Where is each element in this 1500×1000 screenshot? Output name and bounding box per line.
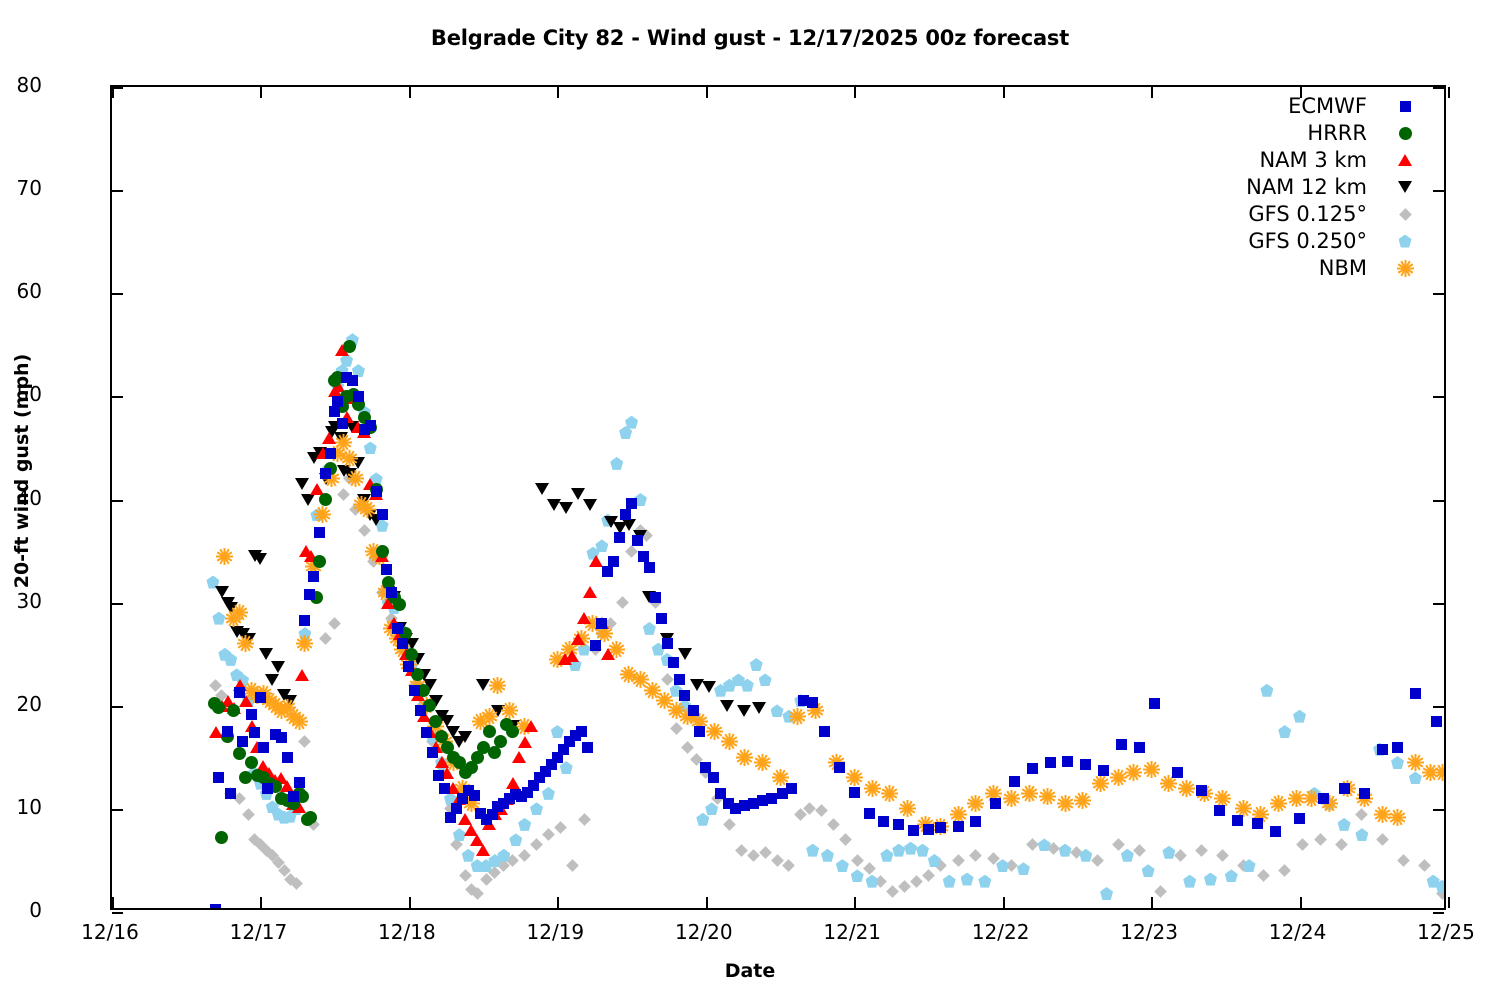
data-point-ecmwf	[970, 816, 981, 827]
legend-item-nam3km[interactable]: NAM 3 km	[1150, 147, 1415, 174]
data-point-ecmwf	[234, 687, 245, 698]
data-point-ecmwf	[688, 705, 699, 716]
data-point-ecmwf	[403, 661, 414, 672]
data-point-ecmwf	[1045, 757, 1056, 768]
x-tick-label: 12/16	[50, 922, 170, 942]
x-tick-mark	[1448, 897, 1450, 908]
legend-item-ecmwf[interactable]: ECMWF	[1150, 93, 1415, 120]
data-point-ecmwf	[632, 535, 643, 546]
legend-pentagon-icon	[1399, 235, 1412, 248]
data-point-ecmwf	[582, 742, 593, 753]
data-point-ecmwf	[1098, 765, 1109, 776]
y-tick-label: 10	[0, 797, 42, 817]
data-point-ecmwf	[427, 747, 438, 758]
data-point-ecmwf	[590, 640, 601, 651]
legend-label: NAM 3 km	[1259, 147, 1367, 173]
x-tick-label: 12/21	[792, 922, 912, 942]
x-tick-mark	[1448, 87, 1450, 98]
data-point-ecmwf	[325, 448, 336, 459]
data-point-ecmwf	[288, 791, 299, 802]
data-point-ecmwf	[626, 498, 637, 509]
data-point-ecmwf	[694, 726, 705, 737]
data-point-ecmwf	[1252, 818, 1263, 829]
data-point-ecmwf	[1377, 744, 1388, 755]
data-point-ecmwf	[249, 727, 260, 738]
data-point-ecmwf	[392, 623, 403, 634]
data-point-ecmwf	[1062, 756, 1073, 767]
data-point-ecmwf	[246, 709, 257, 720]
legend-item-nbm[interactable]: NBM	[1150, 255, 1415, 282]
legend-diamond-icon	[1399, 208, 1412, 221]
legend-item-gfs0250[interactable]: GFS 0.250°	[1150, 228, 1415, 255]
data-point-ecmwf	[1080, 759, 1091, 770]
legend-label: GFS 0.250°	[1248, 228, 1367, 254]
data-point-ecmwf	[282, 752, 293, 763]
data-point-ecmwf	[662, 638, 673, 649]
data-point-ecmwf	[1318, 793, 1329, 804]
y-tick-label: 70	[0, 178, 42, 198]
x-tick-label: 12/17	[198, 922, 318, 942]
data-point-ecmwf	[766, 793, 777, 804]
data-point-ecmwf	[656, 613, 667, 624]
legend-item-hrrr[interactable]: HRRR	[1150, 120, 1415, 147]
legend-item-nam12km[interactable]: NAM 12 km	[1150, 174, 1415, 201]
data-point-ecmwf	[377, 509, 388, 520]
x-tick-label: 12/19	[495, 922, 615, 942]
data-point-ecmwf	[329, 406, 340, 417]
y-tick-mark	[1433, 912, 1444, 914]
data-point-ecmwf	[1232, 815, 1243, 826]
data-point-ecmwf	[708, 772, 719, 783]
data-point-ecmwf	[1149, 698, 1160, 709]
data-point-ecmwf	[1027, 763, 1038, 774]
data-point-ecmwf	[650, 592, 661, 603]
legend-tri-down-icon	[1398, 181, 1412, 193]
data-point-ecmwf	[1172, 767, 1183, 778]
data-point-ecmwf	[990, 798, 1001, 809]
x-axis-label: Date	[0, 960, 1500, 982]
y-tick-label: 60	[0, 281, 42, 301]
data-point-ecmwf	[849, 787, 860, 798]
data-point-ecmwf	[381, 564, 392, 575]
data-point-ecmwf	[304, 589, 315, 600]
y-axis-label: 20-ft wind gust (mph)	[11, 101, 33, 841]
data-point-ecmwf	[1339, 783, 1350, 794]
data-point-ecmwf	[576, 726, 587, 737]
data-point-ecmwf	[1116, 739, 1127, 750]
data-point-ecmwf	[819, 726, 830, 737]
data-point-ecmwf	[258, 742, 269, 753]
data-point-ecmwf	[386, 587, 397, 598]
y-tick-label: 50	[0, 384, 42, 404]
data-point-ecmwf	[299, 615, 310, 626]
data-point-ecmwf	[1214, 805, 1225, 816]
data-point-ecmwf	[415, 705, 426, 716]
data-point-ecmwf	[337, 418, 348, 429]
x-tick-label: 12/20	[644, 922, 764, 942]
data-point-ecmwf	[1009, 776, 1020, 787]
data-point-ecmwf	[314, 527, 325, 538]
data-point-ecmwf	[210, 904, 221, 908]
data-point-ecmwf	[668, 657, 679, 668]
data-point-ecmwf	[1410, 688, 1421, 699]
data-point-ecmwf	[365, 420, 376, 431]
x-tick-label: 12/25	[1386, 922, 1500, 942]
data-point-ecmwf	[308, 571, 319, 582]
data-point-ecmwf	[1196, 785, 1207, 796]
data-point-ecmwf	[644, 562, 655, 573]
data-point-ecmwf	[878, 816, 889, 827]
data-point-ecmwf	[614, 532, 625, 543]
data-point-ecmwf	[1270, 826, 1281, 837]
y-tick-mark	[112, 912, 123, 914]
data-point-ecmwf	[807, 697, 818, 708]
y-tick-label: 40	[0, 488, 42, 508]
data-point-ecmwf	[222, 726, 233, 737]
x-tick-label: 12/24	[1238, 922, 1358, 942]
legend-label: NBM	[1319, 255, 1367, 281]
y-tick-label: 80	[0, 75, 42, 95]
data-point-ecmwf	[893, 819, 904, 830]
data-point-ecmwf	[213, 772, 224, 783]
data-point-ecmwf	[255, 692, 266, 703]
data-point-ecmwf	[786, 783, 797, 794]
data-point-ecmwf	[834, 762, 845, 773]
data-point-ecmwf	[674, 674, 685, 685]
x-tick-label: 12/22	[941, 922, 1061, 942]
legend-label: NAM 12 km	[1246, 174, 1367, 200]
data-point-ecmwf	[262, 783, 273, 794]
data-point-ecmwf	[1431, 716, 1442, 727]
data-point-ecmwf	[469, 790, 480, 801]
data-point-ecmwf	[439, 783, 450, 794]
legend-label: ECMWF	[1288, 93, 1367, 119]
data-point-ecmwf	[923, 824, 934, 835]
x-tick-label: 12/23	[1089, 922, 1209, 942]
data-point-ecmwf	[1392, 742, 1403, 753]
data-point-ecmwf	[371, 486, 382, 497]
legend-circle-icon	[1399, 127, 1412, 140]
y-tick-label: 30	[0, 591, 42, 611]
chart-legend: ECMWFHRRRNAM 3 kmNAM 12 kmGFS 0.125°GFS …	[1150, 93, 1415, 282]
legend-tri-up-icon	[1398, 154, 1412, 166]
legend-label: HRRR	[1307, 120, 1367, 146]
data-point-ecmwf	[1294, 813, 1305, 824]
data-point-ecmwf	[935, 822, 946, 833]
data-point-ecmwf	[347, 375, 358, 386]
data-point-ecmwf	[679, 690, 690, 701]
data-point-ecmwf	[320, 468, 331, 479]
data-point-ecmwf	[602, 566, 613, 577]
data-point-ecmwf	[451, 803, 462, 814]
data-point-ecmwf	[421, 727, 432, 738]
data-point-ecmwf	[1359, 788, 1370, 799]
data-point-ecmwf	[276, 732, 287, 743]
data-point-ecmwf	[908, 825, 919, 836]
data-point-ecmwf	[620, 509, 631, 520]
chart-title: Belgrade City 82 - Wind gust - 12/17/202…	[0, 26, 1500, 50]
data-point-ecmwf	[237, 736, 248, 747]
data-point-ecmwf	[1134, 742, 1145, 753]
data-point-ecmwf	[433, 770, 444, 781]
y-tick-label: 20	[0, 694, 42, 714]
legend-label: GFS 0.125°	[1248, 201, 1367, 227]
legend-item-gfs0125[interactable]: GFS 0.125°	[1150, 201, 1415, 228]
y-tick-label: 0	[0, 900, 42, 920]
data-point-ecmwf	[596, 618, 607, 629]
data-point-ecmwf	[638, 551, 649, 562]
legend-square-icon	[1400, 101, 1411, 112]
data-point-ecmwf	[353, 391, 364, 402]
data-point-ecmwf	[409, 685, 420, 696]
chart-canvas: Belgrade City 82 - Wind gust - 12/17/202…	[0, 0, 1500, 1000]
data-point-ecmwf	[294, 777, 305, 788]
data-point-ecmwf	[225, 788, 236, 799]
data-point-ecmwf	[864, 808, 875, 819]
data-point-ecmwf	[332, 396, 343, 407]
x-tick-label: 12/18	[347, 922, 467, 942]
data-point-ecmwf	[953, 821, 964, 832]
legend-star-icon	[1397, 260, 1414, 277]
data-point-ecmwf	[397, 638, 408, 649]
data-point-ecmwf	[608, 556, 619, 567]
